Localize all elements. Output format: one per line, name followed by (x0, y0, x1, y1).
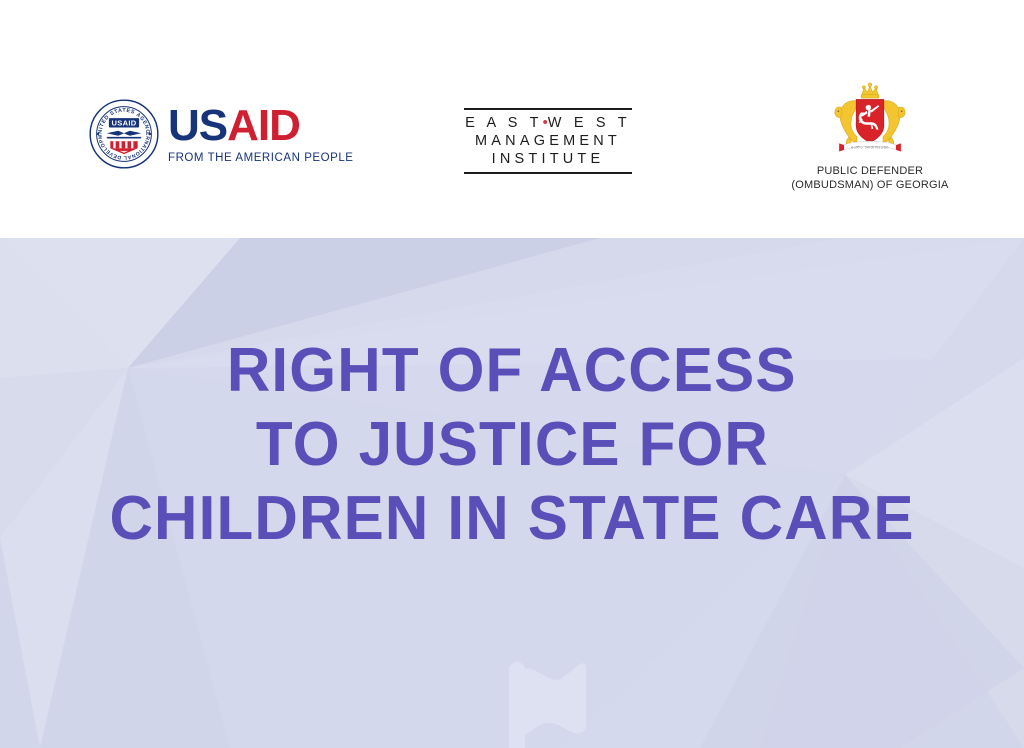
ewmi-line-1-west: W E S T (548, 115, 631, 131)
usaid-wordmark-us: US (168, 101, 227, 150)
usaid-logo: UNITED STATES AGENCY INTERNATIONAL DEVEL… (88, 98, 354, 170)
hero-panel: RIGHT OF ACCESS TO JUSTICE FOR CHILDREN … (0, 238, 1024, 748)
public-defender-caption: PUBLIC DEFENDER (OMBUDSMAN) OF GEORGIA (782, 164, 958, 192)
usaid-tagline: FROM THE AMERICAN PEOPLE (168, 152, 354, 164)
public-defender-caption-line-1: PUBLIC DEFENDER (782, 164, 958, 178)
ewmi-rule-bottom (464, 172, 632, 174)
cover-title-line-2: TO JUSTICE FOR (255, 408, 768, 482)
cover-title-line-3: CHILDREN IN STATE CARE (109, 482, 914, 556)
usaid-wordmark-aid: AID (227, 101, 300, 150)
logo-band: UNITED STATES AGENCY INTERNATIONAL DEVEL… (0, 0, 1024, 238)
cover-title: RIGHT OF ACCESS TO JUSTICE FOR CHILDREN … (0, 238, 1024, 748)
ewmi-line-1-east: E A S T (465, 115, 543, 131)
ewmi-text-rows: E A S T•W E S T MANAGEMENT INSTITUTE (464, 110, 632, 170)
east-west-management-institute-logo: E A S T•W E S T MANAGEMENT INSTITUTE (464, 108, 632, 174)
usaid-wordmark: USAID FROM THE AMERICAN PEOPLE (168, 104, 354, 164)
ewmi-line-3: INSTITUTE (464, 150, 632, 168)
cover-title-line-1: RIGHT OF ACCESS (227, 334, 797, 408)
ewmi-line-1: E A S T•W E S T (464, 114, 632, 132)
public-defender-caption-line-2: (OMBUDSMAN) OF GEORGIA (782, 178, 958, 192)
usaid-wordmark-text: USAID (168, 104, 354, 148)
usaid-seal-icon: UNITED STATES AGENCY INTERNATIONAL DEVEL… (88, 98, 160, 170)
public-defender-of-georgia-logo: ᲫᲐᲚᲐ ᲔᲠᲗᲝᲑᲐᲨᲘ PUBLIC DEFENDER (OMBUDSMAN… (782, 80, 958, 192)
svg-text:USAID: USAID (112, 119, 137, 128)
ewmi-line-2: MANAGEMENT (464, 132, 632, 150)
svg-text:ᲫᲐᲚᲐ ᲔᲠᲗᲝᲑᲐᲨᲘ: ᲫᲐᲚᲐ ᲔᲠᲗᲝᲑᲐᲨᲘ (851, 146, 889, 150)
publication-cover: UNITED STATES AGENCY INTERNATIONAL DEVEL… (0, 0, 1024, 748)
georgian-coat-of-arms-icon: ᲫᲐᲚᲐ ᲔᲠᲗᲝᲑᲐᲨᲘ (820, 80, 920, 158)
